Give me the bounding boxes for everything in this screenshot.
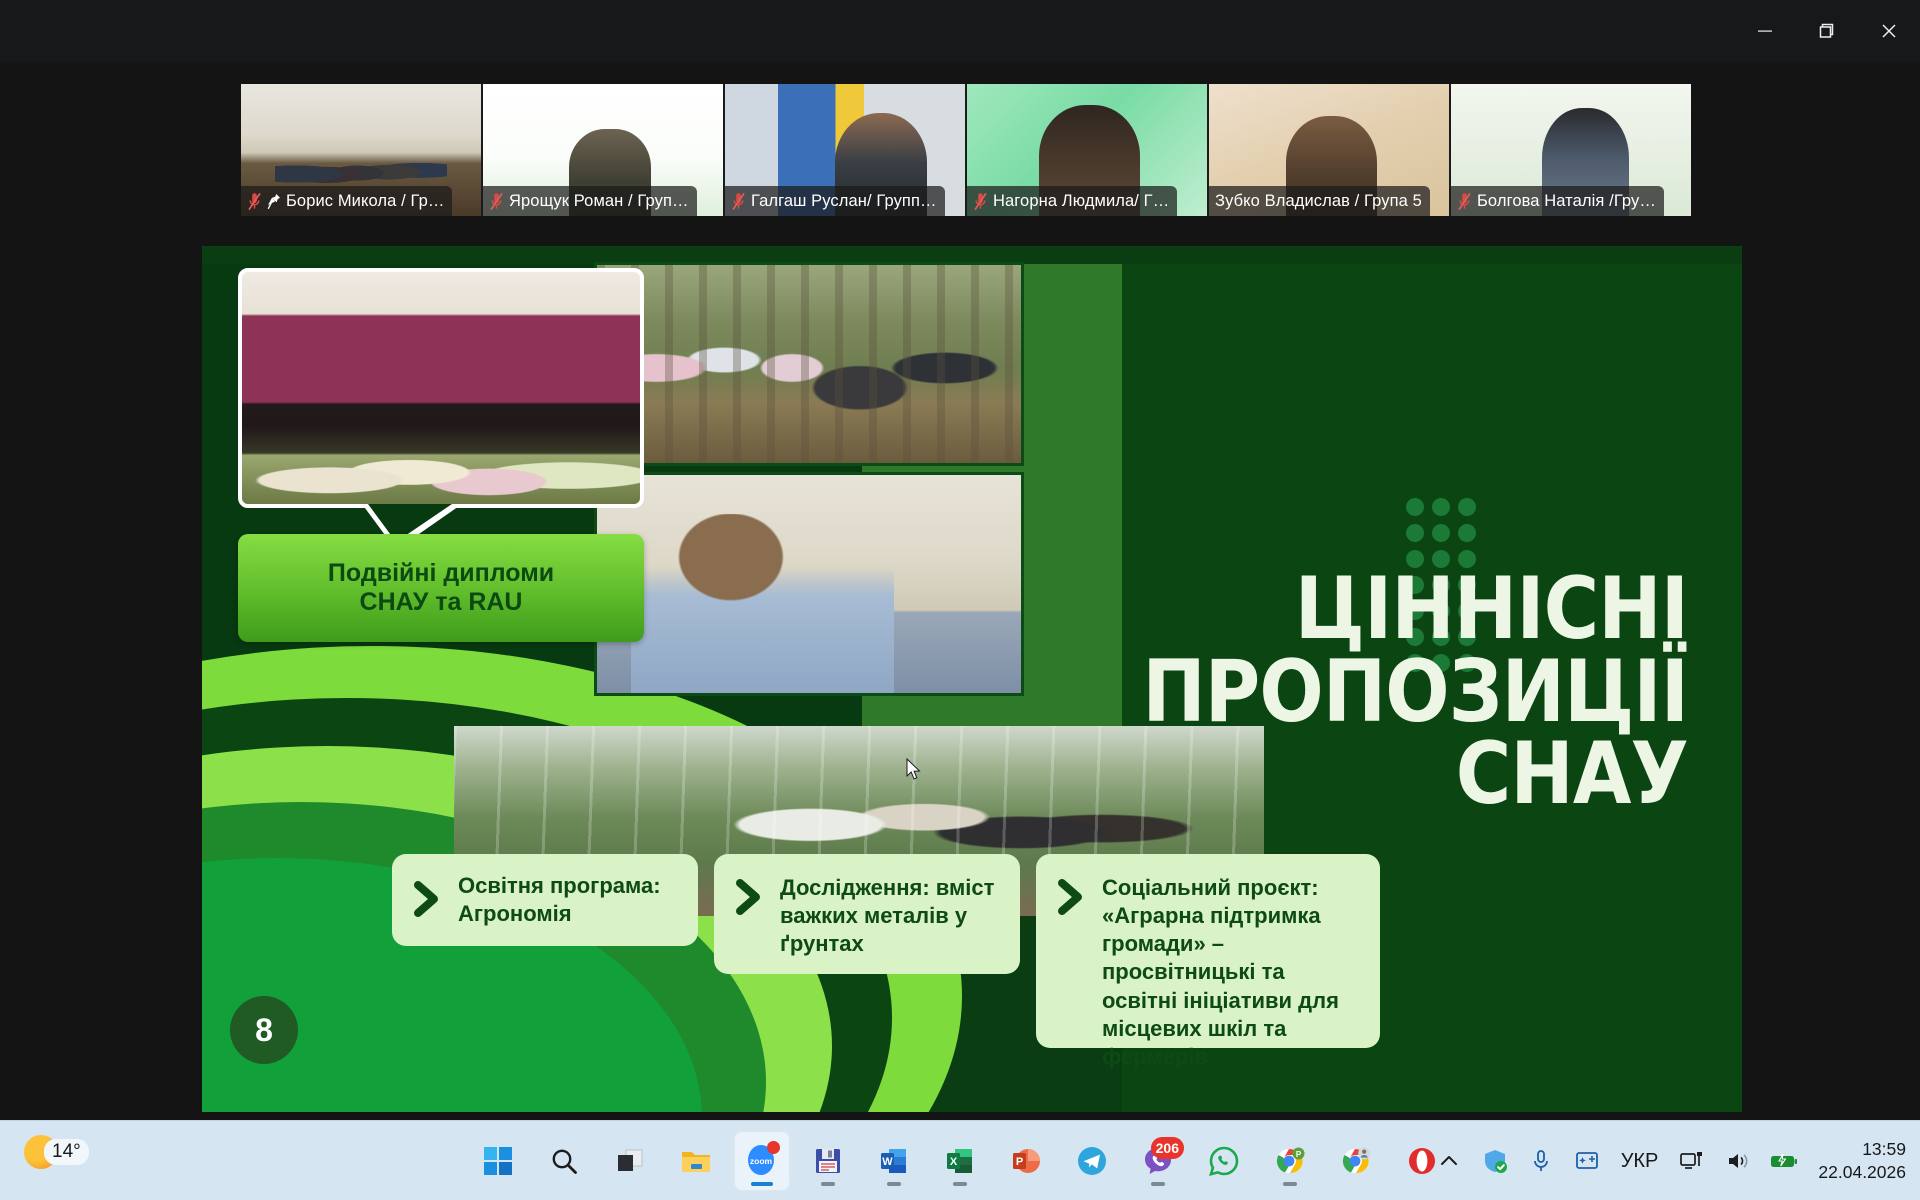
running-indicator: [1151, 1182, 1165, 1186]
cta-line-1: Подвійні дипломи: [328, 559, 554, 588]
whatsapp-icon[interactable]: [1196, 1131, 1252, 1191]
participant-label: Зубко Владислав / Група 5: [1209, 186, 1430, 216]
shared-slide: Подвійні дипломи СНАУ та RAU ЦІННІСНІ ПР…: [202, 246, 1742, 1112]
pin-icon: [267, 193, 281, 210]
info-card-text: Освітня програма: Агрономія: [458, 872, 676, 928]
mic-muted-icon: [489, 192, 504, 211]
double-degree-button[interactable]: Подвійні дипломи СНАУ та RAU: [238, 534, 644, 642]
decorative-dot: [1406, 524, 1424, 542]
zoom-notification-dot: [767, 1141, 780, 1154]
clock[interactable]: 13:59 22.04.2026: [1818, 1138, 1906, 1184]
start-button[interactable]: [470, 1131, 526, 1191]
mic-muted-icon: [1457, 192, 1472, 211]
show-hidden-icons-chevron-up-icon[interactable]: [1433, 1145, 1465, 1177]
battery-charging-icon[interactable]: [1768, 1145, 1800, 1177]
photo-tree-planting: [594, 262, 1024, 466]
participant-tile[interactable]: Нагорна Людмила/ Г…: [967, 84, 1207, 216]
participant-name: Нагорна Людмила/ Г…: [993, 192, 1169, 211]
restore-button[interactable]: [1796, 0, 1858, 62]
search-icon[interactable]: [536, 1131, 592, 1191]
svg-text:P: P: [1016, 1156, 1023, 1168]
powerpoint-icon[interactable]: P: [998, 1131, 1054, 1191]
zoom-icon[interactable]: zoom: [734, 1131, 790, 1191]
word-icon[interactable]: W: [866, 1131, 922, 1191]
svg-text:P: P: [1296, 1150, 1302, 1159]
clock-date: 22.04.2026: [1818, 1161, 1906, 1184]
participant-tile[interactable]: Зубко Владислав / Група 5: [1209, 84, 1449, 216]
system-tray: УКР 13:59 22.04.2026: [1433, 1121, 1906, 1200]
mic-muted-icon: [247, 192, 262, 211]
participant-name: Зубко Владислав / Група 5: [1215, 192, 1422, 211]
excel-icon[interactable]: X: [932, 1131, 988, 1191]
title-line-3: СНАУ: [1072, 733, 1688, 816]
slide-number-badge: 8: [230, 996, 298, 1064]
participant-tile[interactable]: Ярощук Роман / Груп…: [483, 84, 723, 216]
close-button[interactable]: [1858, 0, 1920, 62]
title-line-1: ЦІННІСНІ: [1072, 568, 1688, 651]
participant-tile[interactable]: Галгаш Руслан/ Групп…: [725, 84, 965, 216]
participant-name: Ярощук Роман / Груп…: [509, 192, 689, 211]
running-indicator: [821, 1182, 835, 1186]
viber-badge: 206: [1151, 1137, 1184, 1159]
chevron-right-icon: [732, 874, 766, 954]
svg-text:W: W: [882, 1156, 893, 1168]
participant-name: Борис Микола / Гр…: [286, 192, 444, 211]
zoom-meeting-window: Борис Микола / Гр…Ярощук Роман / Груп…Га…: [0, 0, 1920, 1120]
running-indicator: [953, 1182, 967, 1186]
weather-widget[interactable]: 14°: [24, 1135, 107, 1169]
language-indicator[interactable]: УКР: [1617, 1150, 1663, 1173]
network-icon[interactable]: [1676, 1145, 1708, 1177]
info-card-research: Дослідження: вміст важких металів у ґрун…: [714, 854, 1020, 974]
svg-text:X: X: [950, 1156, 958, 1168]
info-card-social-project: Соціальний проєкт: «Аграрна підтримка гр…: [1036, 854, 1380, 1048]
security-shield-icon[interactable]: [1479, 1145, 1511, 1177]
cta-line-2: СНАУ та RAU: [360, 588, 523, 617]
chevron-right-icon: [1054, 874, 1088, 1028]
decorative-dot: [1406, 498, 1424, 516]
viber-icon[interactable]: 206: [1130, 1131, 1186, 1191]
running-indicator: [887, 1182, 901, 1186]
participant-name: Болгова Наталія /Гру…: [1477, 192, 1656, 211]
minimize-button[interactable]: [1734, 0, 1796, 62]
decorative-dot: [1432, 524, 1450, 542]
decorative-dot: [1432, 498, 1450, 516]
clock-time: 13:59: [1818, 1138, 1906, 1161]
participant-label: Нагорна Людмила/ Г…: [967, 186, 1177, 216]
svg-text:zoom: zoom: [750, 1156, 773, 1166]
participant-name: Галгаш Руслан/ Групп…: [751, 192, 937, 211]
participant-label: Борис Микола / Гр…: [241, 186, 452, 216]
screen-snip-icon[interactable]: [1571, 1145, 1603, 1177]
photo-graduation: [238, 268, 644, 508]
chrome-profile-p-icon[interactable]: P: [1262, 1131, 1318, 1191]
decorative-dot: [1458, 498, 1476, 516]
participant-tile[interactable]: Болгова Наталія /Гру…: [1451, 84, 1691, 216]
title-line-2: ПРОПОЗИЦІЇ: [1072, 651, 1688, 734]
info-card-text: Дослідження: вміст важких металів у ґрун…: [780, 874, 998, 954]
taskbar-app-row: zoom W: [470, 1121, 1450, 1200]
volume-icon[interactable]: [1722, 1145, 1754, 1177]
window-titlebar: [0, 0, 1920, 62]
telegram-icon[interactable]: [1064, 1131, 1120, 1191]
running-indicator: [1283, 1182, 1297, 1186]
windows-taskbar: 14°: [0, 1120, 1920, 1200]
chrome-profile-avatar-icon[interactable]: [1328, 1131, 1384, 1191]
decorative-dot: [1458, 524, 1476, 542]
info-card-text: Соціальний проєкт: «Аграрна підтримка гр…: [1102, 874, 1358, 1028]
microphone-icon[interactable]: [1525, 1145, 1557, 1177]
save-utility-icon[interactable]: [800, 1131, 856, 1191]
photo-laboratory: [594, 472, 1024, 696]
participant-label: Галгаш Руслан/ Групп…: [725, 186, 945, 216]
participant-label: Ярощук Роман / Груп…: [483, 186, 697, 216]
weather-temperature: 14°: [44, 1139, 89, 1165]
file-explorer-icon[interactable]: [668, 1131, 724, 1191]
chevron-right-icon: [410, 876, 444, 924]
mic-muted-icon: [731, 192, 746, 211]
task-view-icon[interactable]: [602, 1131, 658, 1191]
participant-filmstrip[interactable]: Борис Микола / Гр…Ярощук Роман / Груп…Га…: [241, 84, 1689, 216]
participant-tile[interactable]: Борис Микола / Гр…: [241, 84, 481, 216]
participant-label: Болгова Наталія /Гру…: [1451, 186, 1664, 216]
slide-title: ЦІННІСНІ ПРОПОЗИЦІЇ СНАУ: [1072, 568, 1688, 816]
info-card-education: Освітня програма: Агрономія: [392, 854, 698, 946]
zoom-active-indicator: [751, 1182, 773, 1186]
mic-muted-icon: [973, 192, 988, 211]
